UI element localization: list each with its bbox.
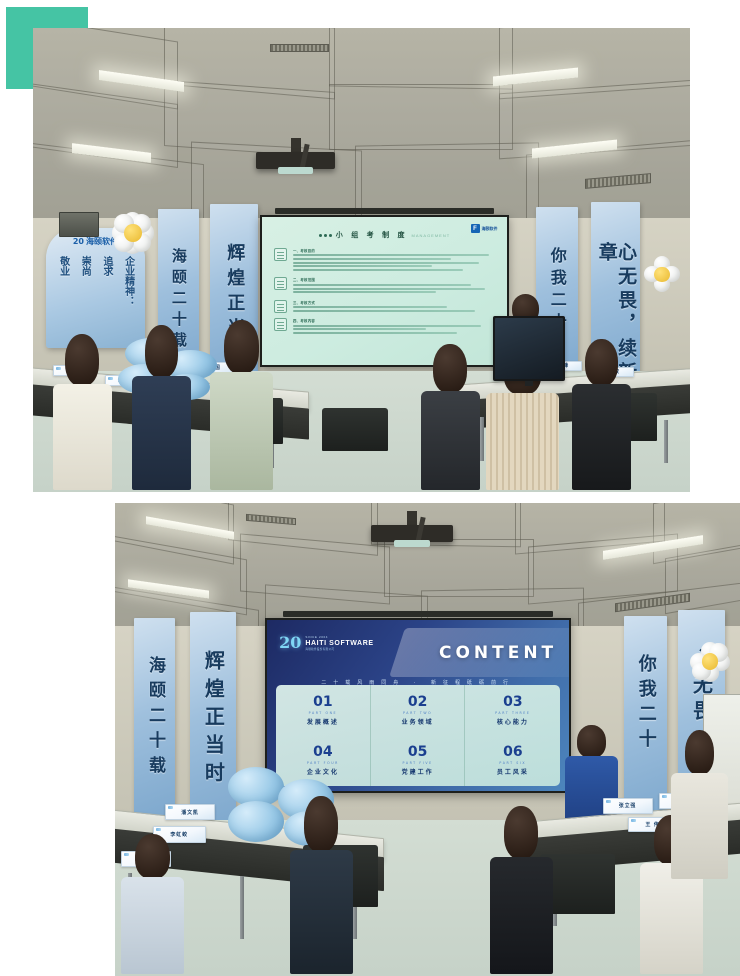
standee-column-text: 追求 [100,256,112,340]
agenda-label: 企业文化 [307,767,339,776]
projected-slide: F 海颐软件 小 组 考 制 度 MANAGEMENT [262,217,508,364]
audience-member [490,806,553,976]
logo-company-name: HAITI SOFTWARE [305,640,373,647]
banner-text: 海颐二十载 [146,656,163,781]
projected-slide: 20 SINCE 2004 HAITI SOFTWARE 海颐软件股份有限公司 … [267,620,569,791]
standee-column-text: 崇尚 [79,256,91,340]
agenda-number: 04 [313,745,332,759]
training-room-text-slide-photo: 20 海颐软件 企业精神： 追求 崇尚 敬业 [33,28,690,492]
agenda-part: PART TWO [403,711,432,715]
photo-top-scene: 20 海颐软件 企业精神： 追求 崇尚 敬业 [33,28,690,492]
section-label: 一、考核目的 [293,248,495,253]
agenda-number: 05 [408,745,427,759]
chair [322,408,388,451]
slide-section: 二、考核范围 [274,277,495,294]
agenda-label: 党建工作 [402,767,434,776]
agenda-grid: 01 PART ONE 发展概述 02 PART TWO 业务领域 [276,685,560,786]
agenda-number: 06 [503,745,522,759]
training-room-content-slide-photo: 海颐二十载 辉煌正当时 你我二十 心无畏，续新章 [115,503,740,976]
standee-logo-mark: 20 [73,237,84,246]
audience-member [132,325,191,492]
slide-content-agenda: 20 SINCE 2004 HAITI SOFTWARE 海颐软件股份有限公司 … [267,620,569,791]
slide-section: 三、考核方式 [274,300,495,314]
back-wall: 海颐二十载 辉煌正当时 你我二十 心无畏，续新章 [115,626,740,825]
logo-since-line: SINCE 2004 [305,635,373,639]
slide-brand-logo: F 海颐软件 [471,224,498,233]
brand-mark: F [471,224,480,233]
agenda-label: 发展概述 [307,717,339,726]
agenda-label: 员工风采 [497,767,529,776]
agenda-number: 02 [408,695,427,709]
namecard: 潘文凯 [165,804,215,820]
brand-name: 海颐软件 [482,226,498,232]
blue-balloon [228,801,284,842]
slide-text-content: F 海颐软件 小 组 考 制 度 MANAGEMENT [262,217,508,364]
agenda-label: 核心能力 [497,717,529,726]
slide-subtitle: MANAGEMENT [412,233,451,238]
namecard-text: 张立强 [619,802,636,809]
banner-text: 辉煌正当时 [203,650,223,790]
agenda-part: PART SIX [499,761,526,765]
audience-member [421,344,480,492]
section-label: 二、考核范围 [293,277,495,282]
namecard: 张立强 [603,798,653,814]
daisy-balloon [690,642,730,682]
document-icon [274,318,287,331]
agenda-item: 01 PART ONE 发展概述 [276,685,371,735]
slide-section: 一、考核目的 [274,248,495,272]
banner-text: 你我二十 [636,654,654,754]
agenda-label: 业务领域 [402,717,434,726]
agenda-part: PART THREE [495,711,530,715]
agenda-part: PART ONE [309,711,338,715]
slide-hero: 20 SINCE 2004 HAITI SOFTWARE 海颐软件股份有限公司 … [267,620,569,688]
section-label: 三、考核方式 [293,300,495,305]
agenda-item: 05 PART FIVE 党建工作 [371,735,466,785]
wall-speaker [59,212,98,237]
agenda-part: PART FOUR [307,761,339,765]
document-icon [274,300,287,313]
agenda-item: 03 PART THREE 核心能力 [465,685,560,735]
standee-columns: 企业精神： 追求 崇尚 敬业 [52,256,139,340]
namecard-text: 潘文凯 [181,809,198,816]
haiti-software-logo: 20 SINCE 2004 HAITI SOFTWARE 海颐软件股份有限公司 [279,635,374,651]
ceiling-projector [256,138,335,178]
document-icon [274,277,287,290]
slide-title: 小 组 考 制 度 [336,230,408,240]
section-label: 四、考核内容 [293,318,495,323]
document-icon [274,248,287,261]
daisy-balloon [644,256,680,292]
ceiling-vent [270,44,329,52]
monitor [493,316,565,381]
banner-haiyi-twenty-years: 海颐二十载 [134,618,175,825]
audience-member [210,320,272,492]
agenda-part: PART FIVE [403,761,433,765]
standee-column-text: 敬业 [57,256,69,340]
agenda-item: 04 PART FOUR 企业文化 [276,735,371,785]
slide-tagline: 二十载风雨同舟 · 新征程砥砺前行 [267,679,569,686]
page-root: 20 海颐软件 企业精神： 追求 崇尚 敬业 [0,0,740,976]
ceiling [33,28,690,228]
slide-sections: 一、考核目的 [274,248,495,336]
audience-member [53,334,112,492]
audience-member [121,834,184,976]
photo-bottom-scene: 海颐二十载 辉煌正当时 你我二十 心无畏，续新章 [115,503,740,976]
banner-glory-at-its-peak: 辉煌正当时 [190,612,236,834]
audience-member [290,796,353,976]
decorative-dots [319,234,332,237]
logo-company-cn: 海颐软件股份有限公司 [305,647,373,651]
anniversary-mark: 20 [279,635,301,651]
ceiling-projector [371,511,452,553]
slide-title-row: 小 组 考 制 度 MANAGEMENT [274,227,495,244]
agenda-number: 03 [503,695,522,709]
agenda-item: 06 PART SIX 员工风采 [465,735,560,785]
slide-title: CONTENT [439,643,557,663]
slide-section: 四、考核内容 [274,318,495,335]
audience-member [572,339,631,492]
projection-screen: 20 SINCE 2004 HAITI SOFTWARE 海颐软件股份有限公司 … [265,618,571,793]
audience-member [671,730,727,881]
agenda-item: 02 PART TWO 业务领域 [371,685,466,735]
daisy-balloon [112,212,154,254]
agenda-number: 01 [313,695,332,709]
